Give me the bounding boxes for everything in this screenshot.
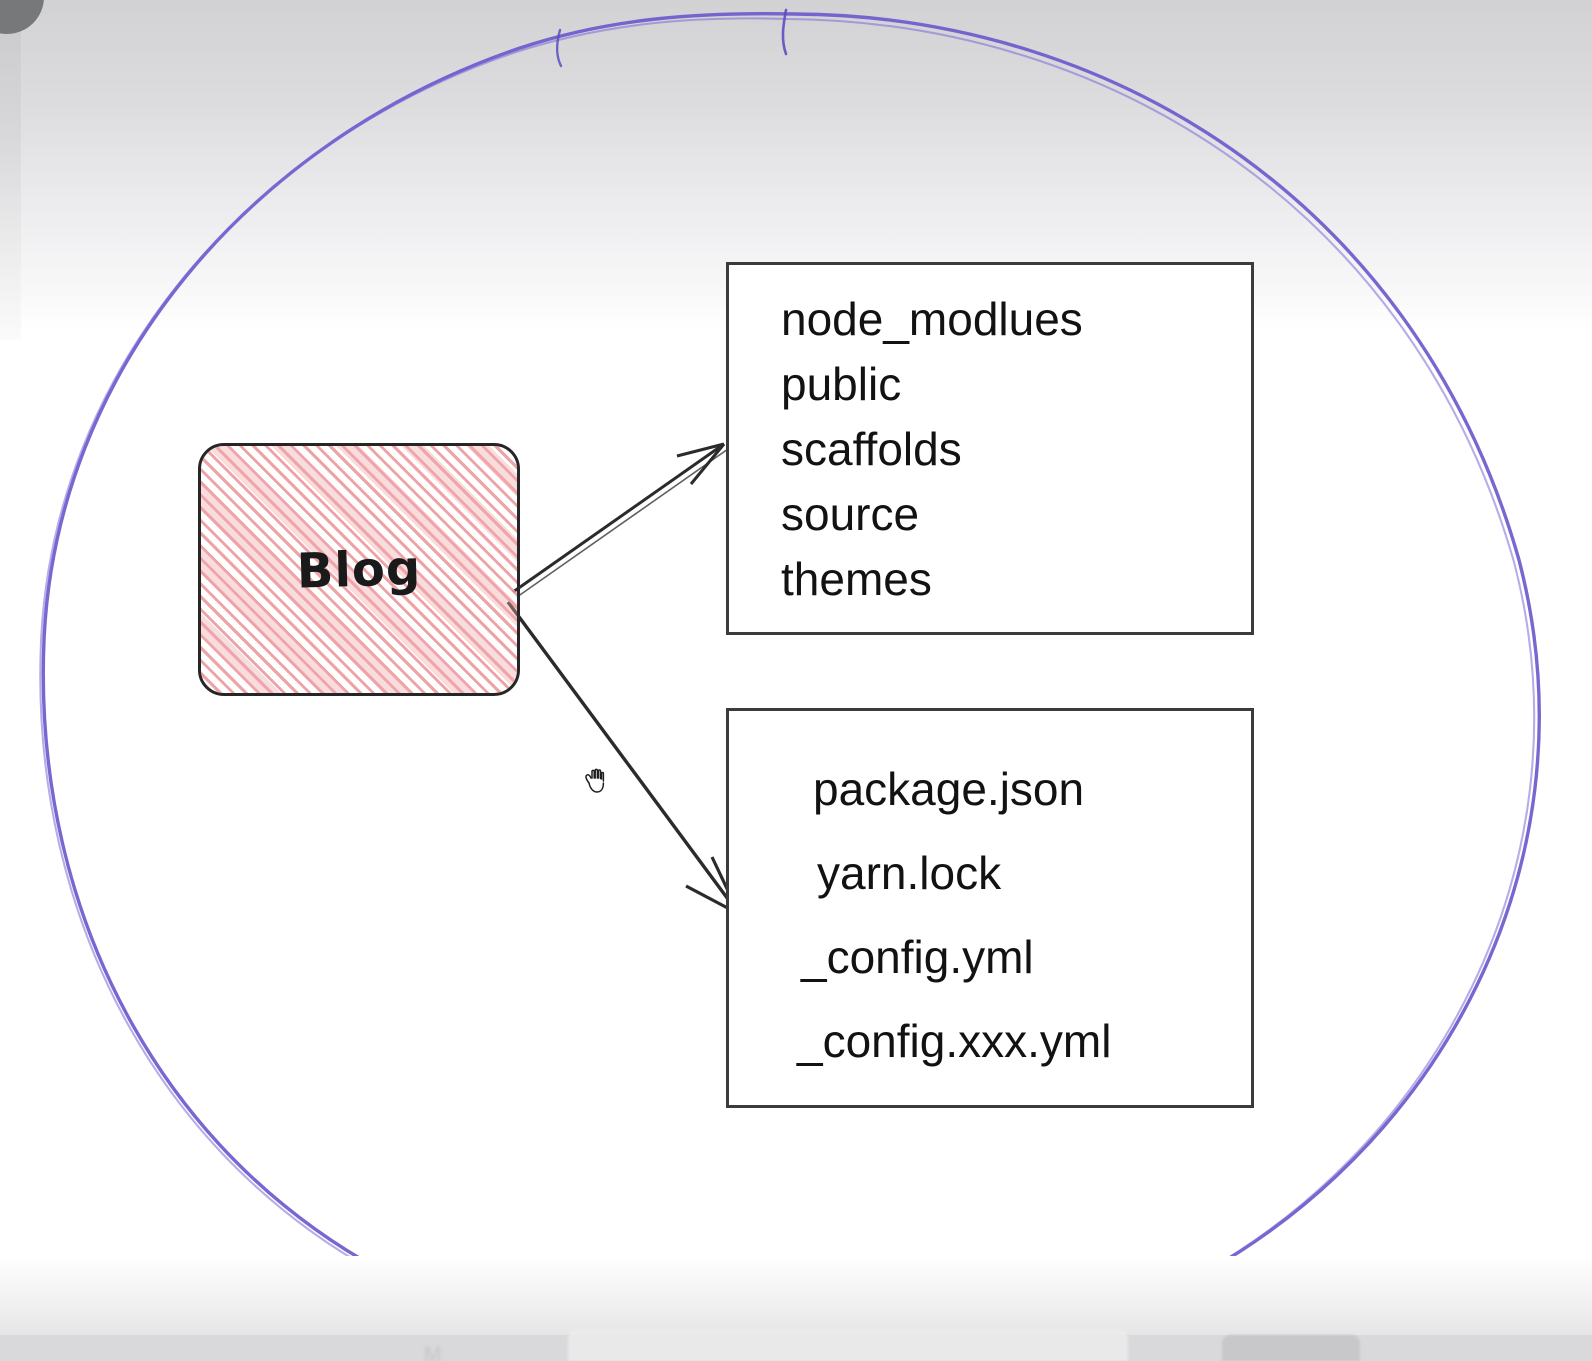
list-item: _config.xxx.yml xyxy=(797,999,1251,1083)
list-item: public xyxy=(781,352,1251,417)
grab-hand-cursor xyxy=(582,764,612,796)
box-directories[interactable]: node_modlues public scaffolds source the… xyxy=(726,262,1254,635)
box-files[interactable]: package.json yarn.lock _config.yml _conf… xyxy=(726,708,1254,1108)
list-item: themes xyxy=(781,547,1251,612)
bottom-toolbar-label: M xyxy=(424,1343,442,1361)
list-item: yarn.lock xyxy=(817,831,1251,915)
list-item: _config.yml xyxy=(801,915,1251,999)
node-blog-label: Blog xyxy=(198,443,520,696)
whiteboard-canvas: Blog node_modlues public scaffolds sourc… xyxy=(0,0,1592,1361)
list-item: node_modlues xyxy=(781,287,1251,352)
list-item: scaffolds xyxy=(781,417,1251,482)
bottom-toolbar-pill-secondary[interactable] xyxy=(1222,1335,1360,1361)
connector-blog-to-directories xyxy=(513,444,728,597)
connector-blog-to-files xyxy=(508,602,739,914)
bottom-toolbar-pill[interactable] xyxy=(568,1329,1128,1361)
list-item: source xyxy=(781,482,1251,547)
node-blog[interactable]: Blog xyxy=(198,443,520,696)
list-item: package.json xyxy=(813,747,1251,831)
